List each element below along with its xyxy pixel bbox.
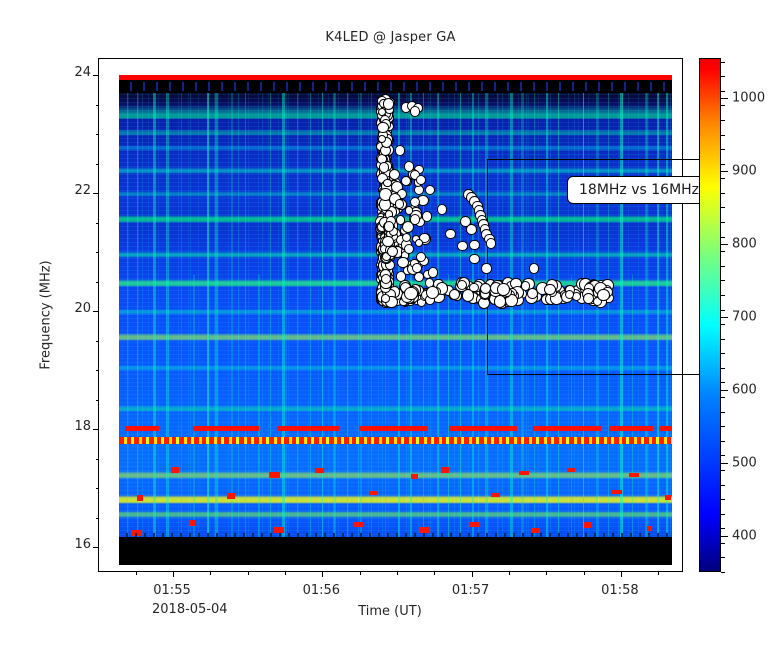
scatter-point[interactable] — [469, 254, 479, 264]
colorbar-tick-minor — [721, 339, 725, 340]
colorbar-tick-400 — [721, 536, 728, 537]
red-blip — [519, 471, 529, 475]
colorbar-tick-600 — [721, 390, 728, 391]
red-blip — [227, 493, 235, 499]
scatter-point[interactable] — [469, 240, 480, 251]
interference-spike — [270, 81, 271, 565]
x-tick-minor — [397, 571, 398, 575]
y-tick-22 — [93, 193, 99, 194]
interference-spike — [333, 81, 336, 565]
x-tick-01-58 — [621, 571, 622, 577]
spectrogram-figure: K4LED @ Jasper GA Frequency (MHz) 18MHz … — [0, 0, 783, 656]
bottom-black-band — [119, 537, 672, 565]
scatter-point[interactable] — [410, 214, 420, 224]
x-tick-label-01-57: 01:57 — [452, 583, 489, 598]
interference-spike — [245, 81, 246, 565]
colorbar-tick-minor — [721, 178, 725, 179]
y-tick-minor — [96, 134, 100, 135]
red-blip — [469, 522, 480, 527]
y-tick-minor — [96, 518, 100, 519]
y-tick-minor — [96, 282, 100, 283]
colorbar-tick-minor — [721, 222, 725, 223]
scatter-point[interactable] — [410, 106, 420, 116]
red-blip — [171, 467, 179, 473]
interference-spike — [423, 81, 424, 565]
colorbar-tick-minor — [721, 455, 725, 456]
beacon-dash-18mhz — [360, 426, 428, 431]
interference-spike — [460, 81, 461, 565]
colorbar-tick-minor — [721, 193, 725, 194]
colorbar-tick-minor — [721, 499, 725, 500]
red-blip — [567, 468, 575, 472]
colorbar-tick-minor — [721, 324, 725, 325]
colorbar-tick-minor — [721, 514, 725, 515]
interference-spike — [510, 81, 513, 565]
x-tick-minor — [509, 571, 510, 575]
interference-spike — [360, 81, 362, 565]
interference-spike — [297, 81, 298, 565]
colorbar-tick-minor — [721, 528, 725, 529]
scatter-point[interactable] — [378, 135, 386, 143]
interference-spike — [448, 275, 449, 565]
colorbar-tick-minor — [721, 557, 725, 558]
interference-spike — [310, 81, 311, 565]
y-tick-minor — [96, 488, 100, 489]
colorbar-label-600: 600 — [732, 382, 757, 397]
colorbar-label-1000: 1000 — [732, 91, 765, 106]
scatter-point[interactable] — [397, 257, 408, 268]
red-blip — [441, 467, 449, 473]
scatter-point[interactable] — [384, 221, 394, 231]
interference-spike — [410, 81, 412, 565]
red-blip — [647, 526, 652, 531]
scatter-point[interactable] — [469, 283, 478, 292]
beacon-dash-18mhz — [659, 426, 672, 431]
x-tick-minor — [658, 571, 659, 575]
y-tick-minor — [96, 459, 100, 460]
plot-axes[interactable]: 18MHz vs 16MHz — [98, 58, 683, 572]
y-tick-label-22: 22 — [74, 183, 91, 198]
scatter-point[interactable] — [437, 204, 447, 214]
y-tick-minor — [96, 223, 100, 224]
colorbar-tick-700 — [721, 317, 728, 318]
scatter-point[interactable] — [422, 211, 432, 221]
scatter-point[interactable] — [416, 252, 426, 262]
y-tick-minor — [96, 252, 100, 253]
colorbar-tick-minor — [721, 572, 725, 573]
interference-spike — [127, 81, 128, 565]
x-tick-minor — [285, 571, 286, 575]
x-tick-minor — [434, 571, 435, 575]
top-black-noise — [119, 82, 672, 91]
red-blip — [189, 520, 195, 526]
interference-spike — [385, 275, 386, 565]
y-tick-minor — [96, 164, 100, 165]
colorbar-label-500: 500 — [732, 455, 757, 470]
colorbar-tick-minor — [721, 280, 725, 281]
red-blip — [491, 493, 500, 497]
y-tick-16 — [93, 547, 99, 548]
scatter-point[interactable] — [395, 145, 405, 155]
red-blip — [665, 495, 671, 500]
interference-spike — [166, 81, 169, 565]
scatter-point[interactable] — [544, 284, 556, 296]
interference-spike — [571, 275, 572, 565]
interference-spike — [215, 81, 218, 565]
red-blip — [611, 490, 622, 494]
x-tick-minor — [584, 571, 585, 575]
y-tick-label-16: 16 — [74, 537, 91, 552]
scatter-point[interactable] — [597, 289, 610, 302]
x-tick-label-01-55: 01:55 — [153, 583, 190, 598]
colorbar-tick-minor — [721, 426, 725, 427]
colorbar-label-400: 400 — [732, 528, 757, 543]
interference-spike — [657, 81, 659, 565]
interference-spike — [437, 81, 439, 565]
red-blip — [315, 468, 324, 473]
interference-spike — [207, 81, 209, 565]
colorbar-label-800: 800 — [732, 236, 757, 251]
colorbar-gradient — [699, 58, 721, 572]
y-tick-20 — [93, 311, 99, 312]
colorbar-tick-minor — [721, 441, 725, 442]
y-tick-minor — [96, 370, 100, 371]
interference-spike — [558, 81, 559, 565]
red-blip — [137, 495, 143, 501]
colorbar-tick-minor — [721, 62, 725, 63]
red-blip — [269, 472, 280, 478]
colorbar-tick-minor — [721, 382, 725, 383]
interference-spike — [596, 81, 598, 565]
y-tick-minor — [96, 400, 100, 401]
colorbar-tick-minor — [721, 485, 725, 486]
x-tick-01-56 — [322, 571, 323, 577]
beacon-dash-18mhz — [449, 426, 517, 431]
page-title: K4LED @ Jasper GA — [98, 30, 683, 45]
x-tick-minor — [136, 571, 137, 575]
annotation-label: 18MHz vs 16MHz — [567, 176, 711, 204]
x-tick-minor — [248, 571, 249, 575]
scatter-point[interactable] — [383, 179, 391, 187]
colorbar-label-700: 700 — [732, 309, 757, 324]
scatter-point[interactable] — [457, 241, 467, 251]
interference-spike — [583, 81, 584, 565]
beacon-dash-18mhz — [193, 426, 259, 431]
y-axis-title: Frequency (MHz) — [39, 260, 54, 369]
scatter-point[interactable] — [466, 224, 477, 235]
scatter-point[interactable] — [428, 267, 438, 277]
scatter-point[interactable] — [426, 286, 439, 299]
scatter-point[interactable] — [389, 169, 400, 180]
interference-spike — [153, 81, 156, 565]
colorbar-tick-minor — [721, 397, 725, 398]
scatter-point[interactable] — [481, 263, 491, 273]
interference-spike — [322, 81, 323, 565]
scatter-point[interactable] — [383, 98, 394, 109]
colorbar-tick-minor — [721, 266, 725, 267]
interference-spike — [645, 81, 648, 565]
interference-spike — [534, 81, 535, 565]
x-tick-minor — [210, 571, 211, 575]
interference-spike — [666, 81, 668, 565]
interference-spike — [608, 81, 609, 565]
colorbar-tick-minor — [721, 368, 725, 369]
x-tick-minor — [360, 571, 361, 575]
colorbar-tick-minor — [721, 120, 725, 121]
x-tick-label-01-56: 01:56 — [303, 583, 340, 598]
colorbar-tick-minor — [721, 295, 725, 296]
interference-spike — [137, 81, 138, 565]
beacon-dash-18mhz — [125, 426, 159, 431]
colorbar-tick-minor — [721, 149, 725, 150]
y-tick-label-24: 24 — [74, 65, 91, 80]
interference-spike — [282, 81, 285, 565]
colorbar-tick-minor — [721, 353, 725, 354]
colorbar-tick-minor — [721, 91, 725, 92]
x-tick-01-57 — [472, 571, 473, 577]
date-label: 2018-05-04 — [152, 602, 228, 617]
interference-spike — [632, 275, 633, 565]
x-tick-01-55 — [173, 571, 174, 577]
x-tick-minor — [546, 571, 547, 575]
interference-spike — [258, 275, 260, 565]
scatter-point[interactable] — [395, 199, 405, 209]
colorbar-tick-minor — [721, 543, 725, 544]
y-tick-18 — [93, 429, 99, 430]
colorbar-label-900: 900 — [732, 164, 757, 179]
interference-spike — [485, 81, 488, 565]
scatter-point[interactable] — [410, 197, 420, 207]
interference-spike — [347, 81, 348, 565]
scatter-point[interactable] — [379, 162, 389, 172]
red-blip — [354, 522, 363, 527]
y-tick-minor — [96, 341, 100, 342]
red-blip — [411, 474, 418, 479]
colorbar-tick-minor — [721, 251, 725, 252]
scatter-point[interactable] — [404, 287, 417, 300]
colorbar-tick-1000 — [721, 98, 728, 99]
interference-spike — [472, 81, 474, 565]
beacon-dash-18mhz — [277, 426, 339, 431]
scatter-point[interactable] — [414, 272, 424, 282]
colorbar-tick-minor — [721, 412, 725, 413]
y-tick-minor — [96, 105, 100, 106]
colorbar-tick-500 — [721, 463, 728, 464]
scatter-point[interactable] — [583, 293, 594, 304]
interference-spike — [546, 81, 548, 565]
y-tick-label-20: 20 — [74, 301, 91, 316]
colorbar-tick-minor — [721, 105, 725, 106]
colorbar-tick-minor — [721, 237, 725, 238]
x-tick-label-01-58: 01:58 — [601, 583, 638, 598]
scatter-point[interactable] — [497, 283, 510, 296]
x-axis-title: Time (UT) — [358, 604, 422, 619]
colorbar-tick-minor — [721, 164, 725, 165]
colorbar-tick-minor — [721, 310, 725, 311]
colorbar-tick-minor — [721, 135, 725, 136]
colorbar-tick-minor — [721, 76, 725, 77]
beacon-dash-18mhz — [533, 426, 601, 431]
red-blip — [369, 491, 378, 495]
colorbar-tick-minor — [721, 470, 725, 471]
interference-spike — [181, 81, 182, 565]
y-tick-24 — [93, 75, 99, 76]
colorbar[interactable] — [699, 58, 721, 572]
colorbar-tick-800 — [721, 244, 728, 245]
red-blip — [584, 522, 591, 528]
interference-spike — [521, 81, 524, 565]
colorbar-tick-minor — [721, 207, 725, 208]
y-tick-label-18: 18 — [74, 419, 91, 434]
carrier-line-17mhz — [119, 437, 672, 444]
colorbar-tick-900 — [721, 171, 728, 172]
beacon-dash-18mhz — [609, 426, 653, 431]
red-blip — [629, 473, 639, 477]
